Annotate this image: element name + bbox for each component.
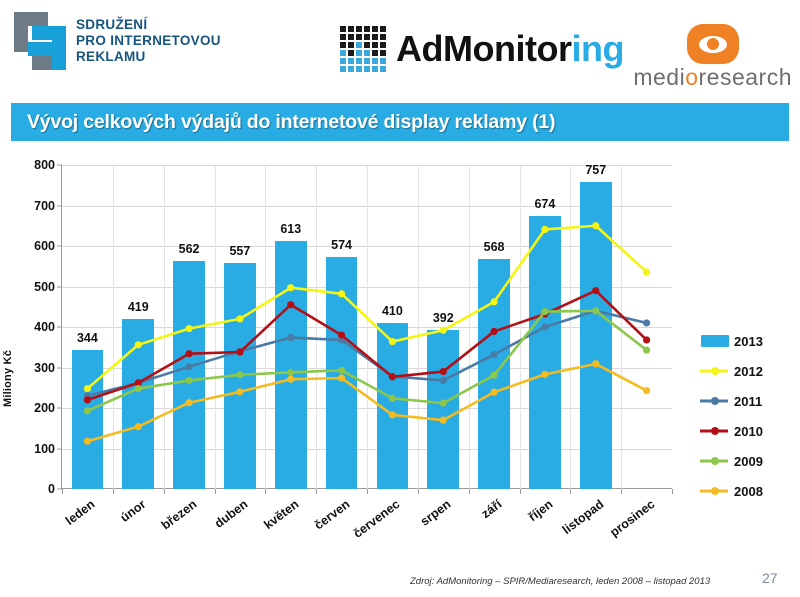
mediaresearch-eye-icon	[687, 24, 739, 64]
x-axis-tickmark	[469, 489, 470, 494]
data-point-2012	[287, 284, 294, 291]
data-point-2011	[185, 363, 192, 370]
dotgrid-cell	[372, 42, 378, 48]
x-axis-tickmark	[520, 489, 521, 494]
data-point-2009	[389, 395, 396, 402]
chart-legend: 201320122011201020092008	[700, 326, 763, 506]
dotgrid-cell	[380, 66, 386, 72]
data-point-2012	[643, 268, 650, 275]
dotgrid-cell	[340, 26, 346, 32]
dotgrid-cell	[340, 34, 346, 40]
spir-line-3: REKLAMU	[76, 49, 221, 65]
admonitoring-logo: AdMonitoring	[340, 26, 624, 72]
data-point-2008	[236, 388, 243, 395]
legend-item-2011[interactable]: 2011	[700, 386, 763, 416]
legend-swatch-icon	[700, 454, 730, 468]
chart-container: Miliony Kč 01002003004005006007008003444…	[0, 150, 800, 570]
dotgrid-cell	[348, 34, 354, 40]
data-point-2010	[236, 349, 243, 356]
dotgrid-cell	[348, 66, 354, 72]
legend-item-2008[interactable]: 2008	[700, 476, 763, 506]
data-point-2012	[541, 226, 548, 233]
x-axis-label-duben: duben	[192, 497, 250, 545]
dotgrid-cell	[348, 42, 354, 48]
dotgrid-cell	[372, 26, 378, 32]
dotgrid-cell	[348, 58, 354, 64]
y-axis-tick-label: 600	[34, 239, 55, 253]
dotgrid-cell	[356, 34, 362, 40]
spir-logo: SDRUŽENÍ PRO INTERNETOVOU REKLAMU	[14, 12, 221, 70]
x-axis-label-září: září	[447, 497, 505, 545]
dotgrid-cell	[340, 50, 346, 56]
x-axis-tickmark	[316, 489, 317, 494]
data-point-2010	[84, 396, 91, 403]
mediaresearch-post: research	[699, 64, 792, 90]
legend-swatch-icon	[700, 334, 730, 348]
mediaresearch-wordmark: medioresearch	[633, 66, 792, 89]
dotgrid-cell	[364, 58, 370, 64]
x-axis-tickmark	[570, 489, 571, 494]
legend-item-2012[interactable]: 2012	[700, 356, 763, 386]
data-point-2008	[338, 374, 345, 381]
dotgrid-cell	[364, 66, 370, 72]
data-point-2009	[236, 371, 243, 378]
data-point-2010	[440, 368, 447, 375]
data-point-2010	[592, 287, 599, 294]
dotgrid-cell	[348, 50, 354, 56]
x-axis-label-červenec: červenec	[345, 497, 403, 545]
data-point-2009	[592, 307, 599, 314]
page-number: 27	[762, 570, 778, 586]
dotgrid-cell	[364, 50, 370, 56]
mediaresearch-logo: medioresearch	[633, 24, 792, 89]
legend-label: 2011	[734, 394, 762, 409]
y-axis-tick-label: 100	[34, 442, 55, 456]
data-point-2011	[643, 319, 650, 326]
x-axis-tickmark	[621, 489, 622, 494]
data-point-2008	[490, 389, 497, 396]
data-point-2010	[185, 350, 192, 357]
x-axis-tickmark	[113, 489, 114, 494]
page-title: Vývoj celkových výdajů do internetové di…	[27, 111, 555, 134]
data-point-2011	[490, 351, 497, 358]
data-point-2010	[389, 373, 396, 380]
slide-title-bar: Vývoj celkových výdajů do internetové di…	[11, 103, 789, 141]
x-axis-tickmark	[164, 489, 165, 494]
spir-logo-text: SDRUŽENÍ PRO INTERNETOVOU REKLAMU	[76, 17, 221, 65]
dotgrid-cell	[340, 58, 346, 64]
x-axis-label-prosinec: prosinec	[599, 497, 657, 545]
data-point-2009	[84, 407, 91, 414]
legend-item-2013[interactable]: 2013	[700, 326, 763, 356]
dotgrid-cell	[372, 66, 378, 72]
data-point-2009	[490, 372, 497, 379]
line-series-layer	[62, 165, 672, 489]
legend-item-2009[interactable]: 2009	[700, 446, 763, 476]
legend-swatch-icon	[700, 424, 730, 438]
data-point-2011	[287, 334, 294, 341]
dotgrid-cell	[364, 42, 370, 48]
y-axis-tick-label: 0	[48, 482, 55, 496]
data-point-2008	[287, 376, 294, 383]
x-axis-tickmark	[265, 489, 266, 494]
data-point-2011	[440, 377, 447, 384]
data-point-2012	[84, 385, 91, 392]
dotgrid-cell	[372, 34, 378, 40]
y-axis-tick-label: 800	[34, 158, 55, 172]
legend-swatch-icon	[700, 394, 730, 408]
dotgrid-cell	[380, 34, 386, 40]
legend-swatch-icon	[700, 484, 730, 498]
x-axis-label-říjen: říjen	[497, 497, 555, 545]
legend-label: 2013	[734, 334, 763, 349]
data-point-2008	[135, 423, 142, 430]
data-point-2010	[643, 336, 650, 343]
data-point-2012	[135, 341, 142, 348]
data-point-2012	[338, 290, 345, 297]
admonitoring-main-text: AdMonitor	[396, 28, 571, 69]
x-axis-tickmark	[367, 489, 368, 494]
legend-label: 2012	[734, 364, 763, 379]
x-axis-label-únor: únor	[91, 497, 149, 545]
legend-label: 2008	[734, 484, 763, 499]
admonitoring-wordmark: AdMonitoring	[396, 31, 624, 67]
y-axis-tick-label: 700	[34, 199, 55, 213]
dotgrid-cell	[372, 58, 378, 64]
x-axis-label-srpen: srpen	[396, 497, 454, 545]
data-point-2008	[541, 371, 548, 378]
dotgrid-cell	[348, 26, 354, 32]
source-note: Zdroj: AdMonitoring – SPIR/Mediaresearch…	[410, 576, 710, 587]
x-axis-tickmark	[418, 489, 419, 494]
legend-swatch-icon	[700, 364, 730, 378]
data-point-2012	[236, 315, 243, 322]
data-point-2009	[287, 369, 294, 376]
x-axis-label-listopad: listopad	[548, 497, 606, 545]
dotgrid-cell	[380, 26, 386, 32]
y-axis-tick-label: 300	[34, 361, 55, 375]
data-point-2012	[389, 338, 396, 345]
dotgrid-cell	[380, 42, 386, 48]
data-point-2009	[185, 377, 192, 384]
data-point-2009	[643, 346, 650, 353]
dotgrid-cell	[356, 26, 362, 32]
admonitoring-dotgrid-icon	[340, 26, 386, 72]
x-axis-tickmark	[672, 489, 673, 494]
dotgrid-cell	[340, 66, 346, 72]
data-point-2009	[338, 367, 345, 374]
dotgrid-cell	[364, 26, 370, 32]
plot-area: 0100200300400500600700800344419562557613…	[62, 165, 672, 489]
legend-label: 2010	[734, 424, 763, 439]
slide: SDRUŽENÍ PRO INTERNETOVOU REKLAMU AdMoni…	[0, 0, 800, 597]
admonitoring-accent-text: ing	[571, 28, 623, 69]
y-axis-tick-label: 200	[34, 401, 55, 415]
data-point-2008	[185, 399, 192, 406]
line-series-2008	[87, 364, 646, 441]
x-axis-label-březen: březen	[142, 497, 200, 545]
y-axis-tick-label: 400	[34, 320, 55, 334]
data-point-2012	[490, 298, 497, 305]
dotgrid-cell	[356, 66, 362, 72]
dotgrid-cell	[340, 42, 346, 48]
data-point-2012	[185, 325, 192, 332]
data-point-2010	[338, 332, 345, 339]
y-axis-tick-label: 500	[34, 280, 55, 294]
data-point-2008	[389, 411, 396, 418]
data-point-2012	[592, 222, 599, 229]
data-point-2012	[440, 327, 447, 334]
data-point-2009	[135, 385, 142, 392]
legend-item-2010[interactable]: 2010	[700, 416, 763, 446]
slide-header: SDRUŽENÍ PRO INTERNETOVOU REKLAMU AdMoni…	[0, 0, 800, 92]
x-axis-tickmark	[62, 489, 63, 494]
spir-line-2: PRO INTERNETOVOU	[76, 33, 221, 49]
data-point-2008	[592, 360, 599, 367]
spir-line-1: SDRUŽENÍ	[76, 17, 221, 33]
data-point-2011	[541, 323, 548, 330]
legend-label: 2009	[734, 454, 763, 469]
mediaresearch-o: o	[685, 64, 698, 90]
dotgrid-cell	[356, 42, 362, 48]
y-axis-title: Miliony Kč	[2, 318, 18, 438]
x-axis-label-červen: červen	[294, 497, 352, 545]
mediaresearch-pre: medi	[633, 64, 685, 90]
dotgrid-cell	[356, 58, 362, 64]
dotgrid-cell	[380, 58, 386, 64]
data-point-2008	[84, 438, 91, 445]
x-axis-tickmark	[215, 489, 216, 494]
dotgrid-cell	[372, 50, 378, 56]
data-point-2010	[490, 328, 497, 335]
data-point-2010	[287, 301, 294, 308]
dotgrid-cell	[380, 50, 386, 56]
data-point-2009	[541, 308, 548, 315]
x-axis-label-květen: květen	[243, 497, 301, 545]
data-point-2008	[643, 387, 650, 394]
dotgrid-cell	[356, 50, 362, 56]
x-axis-label-leden: leden	[40, 497, 98, 545]
data-point-2009	[440, 400, 447, 407]
dotgrid-cell	[364, 34, 370, 40]
data-point-2008	[440, 417, 447, 424]
spir-logo-icon	[14, 12, 66, 70]
